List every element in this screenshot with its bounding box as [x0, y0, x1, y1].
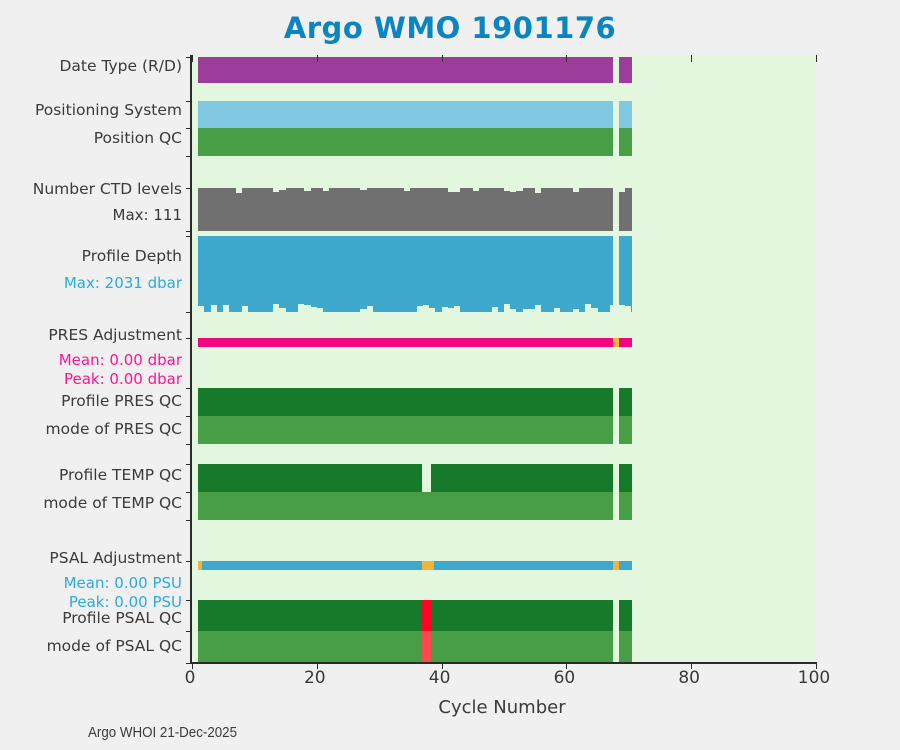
y-axis-label: Date Type (R/D) — [0, 58, 182, 74]
x-tick-labels: 020406080100 — [190, 668, 814, 692]
bar-profile-temp-qc — [198, 464, 421, 492]
bar-mode-temp-qc — [198, 492, 613, 520]
figure-footer: Argo WHOI 21-Dec-2025 — [88, 725, 237, 741]
y-axis-label: Number CTD levels — [0, 181, 182, 197]
bar-profile-pres-qc — [619, 388, 632, 416]
y-axis-label: Max: 111 — [0, 207, 182, 223]
bar-profile-psal-qc — [619, 600, 632, 631]
y-axis-label: PRES Adjustment — [0, 327, 182, 343]
bar-profile-depth — [631, 236, 632, 312]
x-tick-label: 60 — [554, 668, 576, 688]
bar-mode-pres-qc — [619, 416, 632, 444]
y-axis-tick — [186, 631, 192, 632]
y-axis-label: Profile PSAL QC — [0, 610, 182, 626]
bar-psal-adjust-flag — [422, 561, 434, 570]
plot-inner — [192, 55, 816, 662]
y-axis-label: mode of PRES QC — [0, 421, 182, 437]
bar-position-qc — [198, 128, 613, 156]
y-axis-labels: Date Type (R/D)Positioning SystemPositio… — [0, 55, 182, 662]
y-axis-label: Profile PRES QC — [0, 393, 182, 409]
y-axis-tick — [186, 600, 192, 601]
bar-mode-psal-qc — [619, 631, 632, 662]
y-axis-tick — [186, 128, 192, 129]
bar-profile-psal-qc-bad — [422, 600, 431, 631]
y-axis-label: Peak: 0.00 PSU — [0, 594, 182, 610]
bar-position-qc — [619, 128, 632, 156]
x-tick-label: 80 — [678, 668, 700, 688]
bar-mode-pres-qc — [198, 416, 613, 444]
y-axis-tick — [186, 101, 192, 102]
y-axis-label: Max: 2031 dbar — [0, 275, 182, 291]
y-axis-tick — [186, 231, 192, 232]
y-axis-tick — [186, 156, 192, 157]
x-tick-label: 40 — [429, 668, 451, 688]
y-axis-label: Position QC — [0, 130, 182, 146]
bar-pres-adjust — [619, 338, 632, 347]
bar-mode-psal-qc — [198, 631, 421, 662]
x-axis-tick-top — [192, 55, 193, 62]
figure: Argo WMO 1901176 Date Type (R/D)Position… — [0, 0, 900, 750]
y-axis-tick — [186, 492, 192, 493]
plot-area — [190, 55, 816, 664]
y-axis-tick — [186, 338, 192, 339]
page-title: Argo WMO 1901176 — [0, 11, 900, 45]
bar-profile-psal-qc — [431, 600, 613, 631]
x-axis-tick-top — [317, 55, 318, 62]
y-axis-tick — [186, 561, 192, 562]
y-axis-label: mode of TEMP QC — [0, 495, 182, 511]
bar-ctd-levels — [610, 188, 613, 231]
bar-psal-adjust — [619, 561, 632, 570]
bar-date-type — [619, 57, 632, 83]
y-axis-label: Profile Depth — [0, 248, 182, 264]
bar-mode-temp-qc — [619, 492, 632, 520]
y-axis-label: mode of PSAL QC — [0, 638, 182, 654]
bar-profile-pres-qc — [198, 388, 613, 416]
bar-ctd-levels — [631, 188, 632, 231]
bar-date-type — [198, 57, 613, 83]
bar-psal-adjust — [202, 561, 422, 570]
bar-profile-temp-qc — [619, 464, 632, 492]
bar-positioning-system — [198, 101, 613, 128]
y-axis-tick — [186, 464, 192, 465]
x-tick-label: 100 — [798, 668, 830, 688]
y-axis-tick — [186, 312, 192, 313]
y-axis-label: Positioning System — [0, 102, 182, 118]
y-axis-label: PSAL Adjustment — [0, 550, 182, 566]
bar-pres-adjust — [198, 338, 613, 347]
bar-profile-temp-qc — [431, 464, 613, 492]
x-tick-label: 0 — [185, 668, 196, 688]
bar-profile-psal-qc — [198, 600, 421, 631]
x-tick-label: 20 — [304, 668, 326, 688]
y-axis-tick — [186, 188, 192, 189]
y-axis-label: Peak: 0.00 dbar — [0, 371, 182, 387]
x-axis-title: Cycle Number — [190, 697, 814, 718]
bar-mode-psal-qc-bad — [422, 631, 431, 662]
y-axis-tick — [186, 236, 192, 237]
y-axis-tick — [186, 388, 192, 389]
x-axis-tick-top — [816, 55, 817, 62]
y-axis-label: Mean: 0.00 PSU — [0, 575, 182, 591]
y-axis-label: Profile TEMP QC — [0, 467, 182, 483]
bar-mode-psal-qc — [431, 631, 613, 662]
y-axis-tick — [186, 444, 192, 445]
y-axis-label: Mean: 0.00 dbar — [0, 352, 182, 368]
bar-positioning-system — [619, 101, 632, 128]
x-axis-tick-top — [442, 55, 443, 62]
bar-profile-depth — [610, 236, 613, 305]
bar-psal-adjust — [434, 561, 613, 570]
y-axis-tick — [186, 416, 192, 417]
x-axis-tick-top — [566, 55, 567, 62]
y-axis-tick — [186, 520, 192, 521]
x-axis-tick-top — [691, 55, 692, 62]
